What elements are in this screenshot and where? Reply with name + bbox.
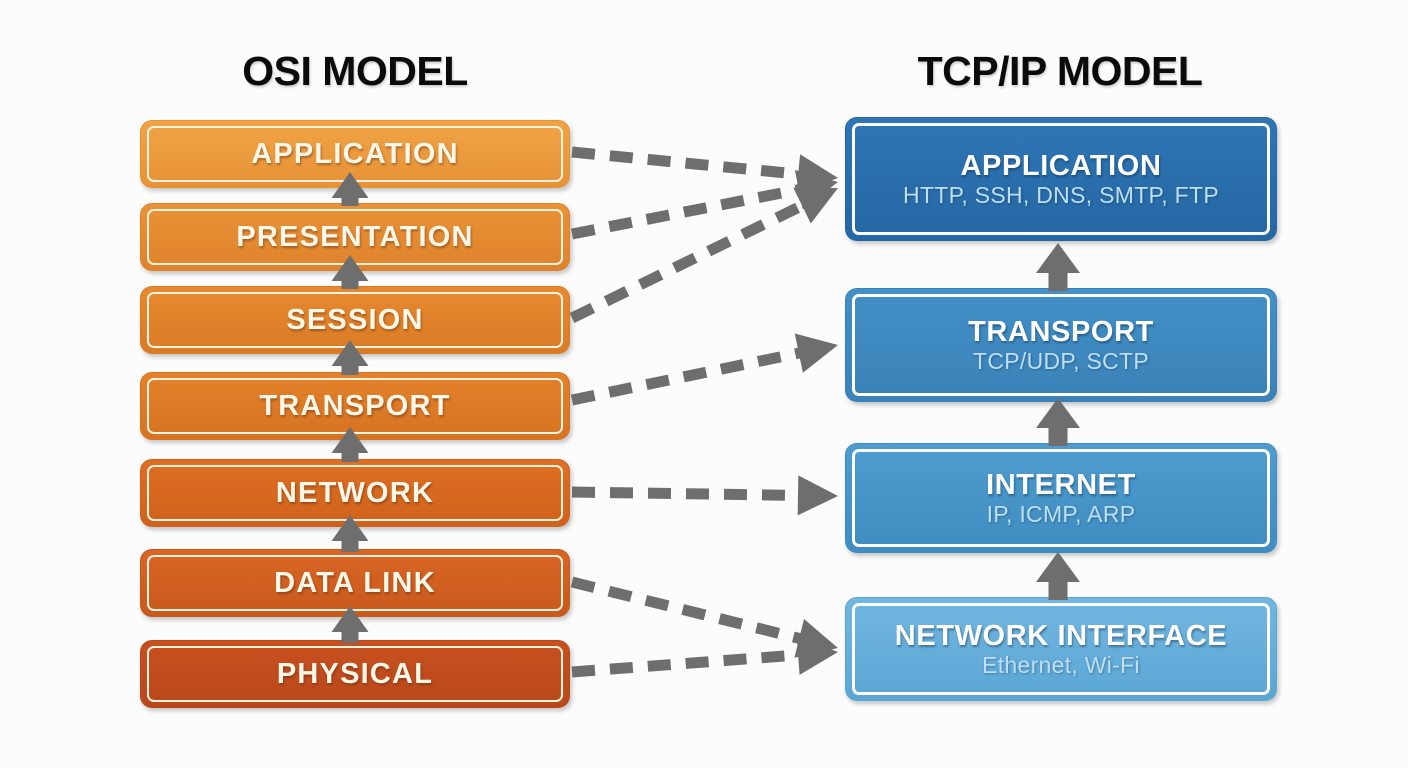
- tcp-layer-network-interface[interactable]: NETWORK INTERFACEEthernet, Wi-Fi: [845, 597, 1277, 701]
- osi-model-title: OSI MODEL: [140, 48, 570, 95]
- up-arrow-shape: [1036, 552, 1080, 600]
- mapping-arrowhead: [795, 170, 838, 209]
- tcp-layer-internet[interactable]: INTERNETIP, ICMP, ARP: [845, 443, 1277, 553]
- mapping-arrowhead: [797, 635, 838, 675]
- mapping-dashed-line: [572, 152, 804, 175]
- osi-layer-label: TRANSPORT: [141, 391, 569, 421]
- tcp-layer-protocols: TCP/UDP, SCTP: [846, 349, 1276, 373]
- tcp-layer-protocols: Ethernet, Wi-Fi: [846, 653, 1276, 677]
- mapping-arrow-6: [572, 635, 838, 675]
- mapping-arrow-5: [572, 582, 838, 658]
- osi-layer-session[interactable]: SESSION: [140, 286, 570, 354]
- osi-layer-transport[interactable]: TRANSPORT: [140, 372, 570, 440]
- tcp-up-arrow-2: [1036, 552, 1080, 600]
- mapping-arrow-0: [572, 152, 838, 194]
- mapping-dashed-line: [572, 189, 805, 234]
- mapping-dashed-line: [572, 655, 804, 672]
- mapping-arrowhead: [793, 188, 838, 224]
- up-arrow-shape: [1036, 398, 1080, 446]
- diagram-canvas: OSI MODEL TCP/IP MODEL APPLICATIONPRESEN…: [0, 0, 1408, 768]
- osi-layer-label: APPLICATION: [141, 139, 569, 169]
- tcp-layer-protocols: HTTP, SSH, DNS, SMTP, FTP: [846, 183, 1276, 207]
- osi-layer-data-link[interactable]: DATA LINK: [140, 549, 570, 617]
- tcp-layer-label: NETWORK INTERFACE: [846, 621, 1276, 651]
- mapping-arrowhead: [798, 475, 838, 515]
- mapping-arrow-3: [572, 334, 838, 401]
- tcp-up-arrow-0: [1036, 243, 1080, 291]
- osi-layer-physical[interactable]: PHYSICAL: [140, 640, 570, 708]
- mapping-dashed-line: [572, 203, 807, 318]
- tcp-layer-application[interactable]: APPLICATIONHTTP, SSH, DNS, SMTP, FTP: [845, 117, 1277, 241]
- tcp-model-title: TCP/IP MODEL: [845, 48, 1275, 95]
- mapping-dashed-line: [572, 582, 805, 640]
- osi-layer-presentation[interactable]: PRESENTATION: [140, 203, 570, 271]
- osi-layer-label: DATA LINK: [141, 568, 569, 598]
- mapping-arrowhead: [795, 334, 838, 373]
- tcp-layer-protocols: IP, ICMP, ARP: [846, 502, 1276, 526]
- osi-layer-application[interactable]: APPLICATION: [140, 120, 570, 188]
- tcp-layer-label: TRANSPORT: [846, 317, 1276, 347]
- tcp-layer-transport[interactable]: TRANSPORTTCP/UDP, SCTP: [845, 288, 1277, 402]
- tcp-layer-label: INTERNET: [846, 470, 1276, 500]
- osi-layer-label: PHYSICAL: [141, 659, 569, 689]
- tcp-up-arrow-1: [1036, 398, 1080, 446]
- tcp-layer-label: APPLICATION: [846, 151, 1276, 181]
- osi-layer-label: SESSION: [141, 305, 569, 335]
- up-arrow-shape: [1036, 243, 1080, 291]
- mapping-arrow-1: [572, 170, 838, 234]
- mapping-arrowhead: [794, 619, 838, 658]
- osi-layer-network[interactable]: NETWORK: [140, 459, 570, 527]
- mapping-arrowhead: [796, 154, 838, 194]
- mapping-arrow-2: [572, 188, 838, 318]
- osi-layer-label: PRESENTATION: [141, 222, 569, 252]
- osi-layer-label: NETWORK: [141, 478, 569, 508]
- mapping-dashed-line: [572, 492, 804, 495]
- mapping-arrow-4: [572, 475, 838, 515]
- mapping-dashed-line: [572, 352, 805, 400]
